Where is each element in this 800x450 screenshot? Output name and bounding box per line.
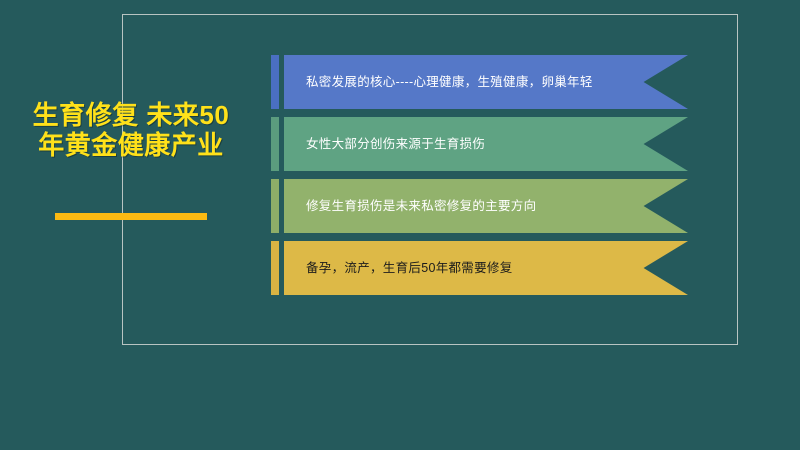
banner-accent-bar xyxy=(271,179,279,233)
banner-accent-bar xyxy=(271,117,279,171)
banner-label: 私密发展的核心----心理健康，生殖健康，卵巢年轻 xyxy=(284,74,593,90)
banner-body: 备孕，流产，生育后50年都需要修复 xyxy=(284,241,688,295)
slide-canvas: 生育修复 未来50年黄金健康产业 私密发展的核心----心理健康，生殖健康，卵巢… xyxy=(0,0,800,450)
title-block: 生育修复 未来50年黄金健康产业 xyxy=(22,100,240,160)
banner-label: 女性大部分创伤来源于生育损伤 xyxy=(284,136,485,152)
title-underline xyxy=(55,213,207,220)
banner-item-1[interactable]: 私密发展的核心----心理健康，生殖健康，卵巢年轻 xyxy=(271,55,731,109)
banner-item-4[interactable]: 备孕，流产，生育后50年都需要修复 xyxy=(271,241,731,295)
banner-item-2[interactable]: 女性大部分创伤来源于生育损伤 xyxy=(271,117,731,171)
page-title: 生育修复 未来50年黄金健康产业 xyxy=(22,100,240,160)
banner-label: 备孕，流产，生育后50年都需要修复 xyxy=(284,260,513,276)
banner-body: 私密发展的核心----心理健康，生殖健康，卵巢年轻 xyxy=(284,55,688,109)
banner-accent-bar xyxy=(271,55,279,109)
banner-list: 私密发展的核心----心理健康，生殖健康，卵巢年轻 女性大部分创伤来源于生育损伤… xyxy=(271,55,731,303)
banner-label: 修复生育损伤是未来私密修复的主要方向 xyxy=(284,198,536,214)
banner-item-3[interactable]: 修复生育损伤是未来私密修复的主要方向 xyxy=(271,179,731,233)
banner-body: 女性大部分创伤来源于生育损伤 xyxy=(284,117,688,171)
banner-accent-bar xyxy=(271,241,279,295)
banner-body: 修复生育损伤是未来私密修复的主要方向 xyxy=(284,179,688,233)
